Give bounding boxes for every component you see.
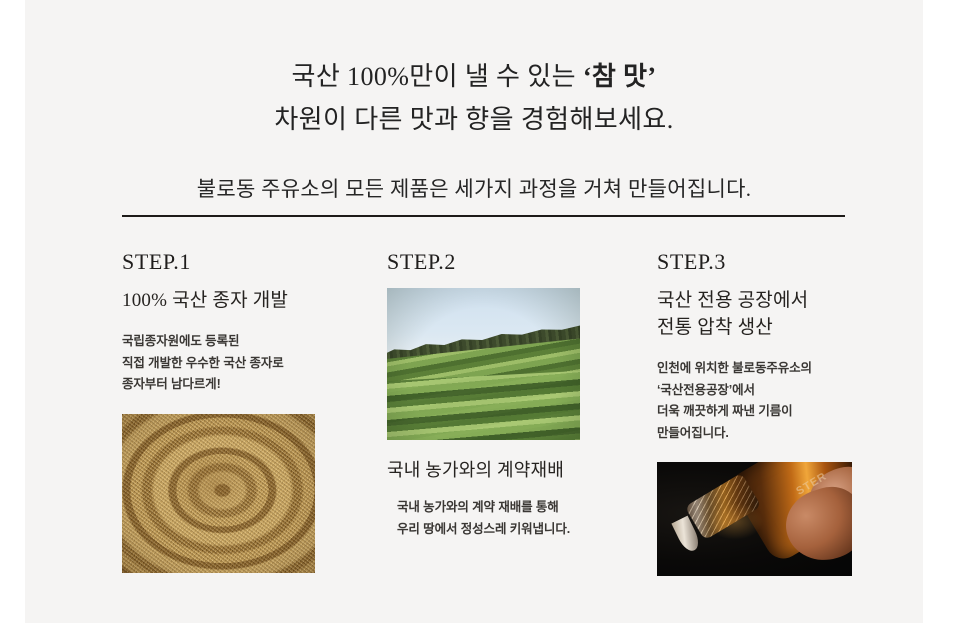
photo-vignette xyxy=(387,288,580,440)
step-column-1: STEP.1 100% 국산 종자 개발 국립종자원에도 등록된 직접 개발한 … xyxy=(122,250,382,573)
step-column-3: STEP.3 국산 전용 공장에서 전통 압착 생산 인천에 위치한 불로동주유… xyxy=(657,250,917,576)
terraced-field-photo xyxy=(387,288,580,440)
step-1-label: STEP.1 xyxy=(122,250,382,274)
step-2-sub-title: 국내 농가와의 계약재배 xyxy=(387,458,647,483)
step-3-title: 국산 전용 공장에서 전통 압착 생산 xyxy=(657,288,917,342)
headline-accent-text: ‘참 맛’ xyxy=(583,62,657,91)
headline-line-1-text: 국산 100%만이 낼 수 있는 xyxy=(292,62,583,91)
step-column-2: STEP.2 국내 농가와의 계약재배 국내 농가와의 계약 재배를 통해 우리… xyxy=(387,250,647,540)
bottle-glow-highlight xyxy=(657,462,852,576)
section-divider xyxy=(122,215,845,217)
step-1-body: 국립종자원에도 등록된 직접 개발한 우수한 국산 종자로 종자부터 남다르게! xyxy=(122,331,382,396)
subheadline: 불로동 주유소의 모든 제품은 세가지 과정을 거쳐 만들어집니다. xyxy=(25,173,923,203)
page-root: 국산 100%만이 낼 수 있는 ‘참 맛’ 차원이 다른 맛과 향을 경험해보… xyxy=(0,0,966,623)
step-2-sub-body: 국내 농가와의 계약 재배를 통해 우리 땅에서 정성스레 키워냅니다. xyxy=(387,497,647,540)
content-panel: 국산 100%만이 낼 수 있는 ‘참 맛’ 차원이 다른 맛과 향을 경험해보… xyxy=(25,0,923,623)
step-3-body: 인천에 위치한 불로동주유소의 ‘국산전용공장’에서 더욱 깨끗하게 짜낸 기름… xyxy=(657,358,917,444)
sesame-seeds-photo xyxy=(122,414,315,573)
headline-line-1: 국산 100%만이 낼 수 있는 ‘참 맛’ xyxy=(25,56,923,93)
step-2-label: STEP.2 xyxy=(387,250,647,274)
step-3-label: STEP.3 xyxy=(657,250,917,274)
amber-oil-bottle-photo: STER xyxy=(657,462,852,576)
step-1-title: 100% 국산 종자 개발 xyxy=(122,288,382,315)
headline-line-2: 차원이 다른 맛과 향을 경험해보세요. xyxy=(25,99,923,136)
